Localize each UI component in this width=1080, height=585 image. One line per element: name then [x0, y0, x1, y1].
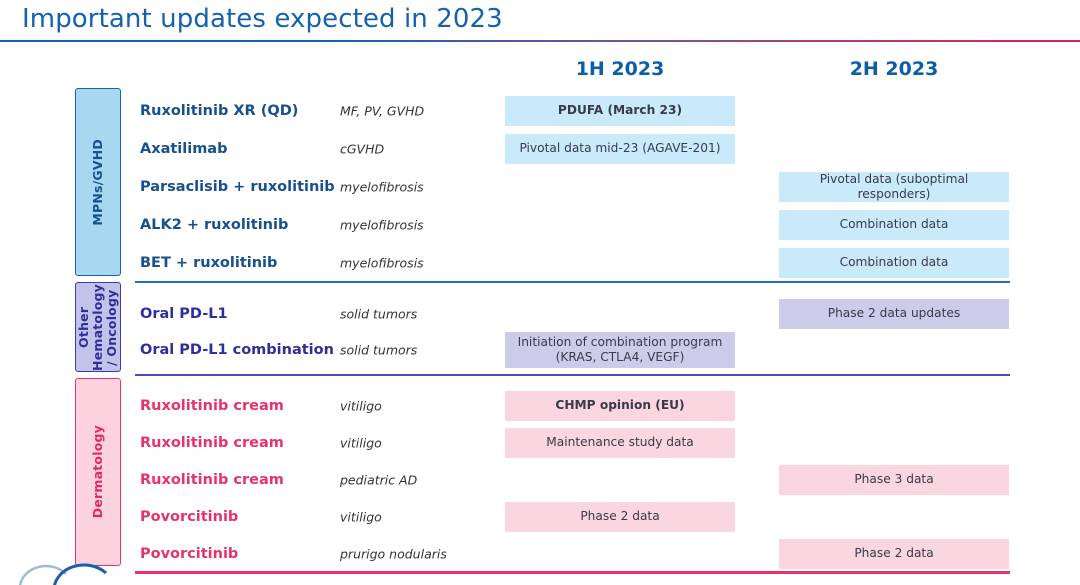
- company-logo-icon: [18, 560, 148, 585]
- table-row[interactable]: Oral PD-L1 combination solid tumors Init…: [0, 331, 1080, 368]
- page-title: Important updates expected in 2023: [22, 4, 503, 34]
- row-indication: vitiligo: [340, 398, 382, 413]
- milestone-bar-2h[interactable]: Phase 2 data: [779, 539, 1009, 569]
- row-drug-name: ALK2 + ruxolitinib: [140, 217, 288, 233]
- milestone-bar-1h[interactable]: Maintenance study data: [505, 428, 735, 458]
- milestone-bar-2h[interactable]: Combination data: [779, 210, 1009, 240]
- row-drug-name: Ruxolitinib cream: [140, 398, 284, 414]
- row-drug-name: Povorcitinib: [140, 546, 238, 562]
- row-drug-name: Parsaclisib + ruxolitinib: [140, 179, 335, 195]
- table-row[interactable]: Ruxolitinib cream pediatric AD Phase 3 d…: [0, 461, 1080, 498]
- row-indication: vitiligo: [340, 509, 382, 524]
- milestone-bar-1h[interactable]: Pivotal data mid-23 (AGAVE-201): [505, 134, 735, 164]
- section-divider-mpns-other: [135, 281, 1010, 283]
- row-indication: pediatric AD: [340, 472, 417, 487]
- table-row[interactable]: Oral PD-L1 solid tumors Phase 2 data upd…: [0, 295, 1080, 332]
- row-drug-name: Oral PD-L1: [140, 306, 228, 322]
- row-drug-name: Oral PD-L1 combination: [140, 342, 334, 358]
- milestone-bar-2h[interactable]: Combination data: [779, 248, 1009, 278]
- row-drug-name: Povorcitinib: [140, 509, 238, 525]
- section-divider-other-dermatology: [135, 374, 1010, 376]
- row-indication: MF, PV, GVHD: [340, 103, 424, 118]
- table-row[interactable]: Axatilimab cGVHD Pivotal data mid-23 (AG…: [0, 130, 1080, 167]
- table-row[interactable]: Ruxolitinib XR (QD) MF, PV, GVHD PDUFA (…: [0, 92, 1080, 129]
- milestone-bar-1h[interactable]: CHMP opinion (EU): [505, 391, 735, 421]
- milestone-bar-2h[interactable]: Phase 2 data updates: [779, 299, 1009, 329]
- row-drug-name: Ruxolitinib cream: [140, 472, 284, 488]
- milestone-bar-1h[interactable]: Phase 2 data: [505, 502, 735, 532]
- milestone-bar-1h[interactable]: PDUFA (March 23): [505, 96, 735, 126]
- row-indication: prurigo nodularis: [340, 546, 447, 561]
- row-indication: vitiligo: [340, 435, 382, 450]
- row-drug-name: Ruxolitinib cream: [140, 435, 284, 451]
- row-drug-name: Axatilimab: [140, 141, 227, 157]
- row-indication: myelofibrosis: [340, 255, 424, 270]
- table-row[interactable]: Povorcitinib prurigo nodularis Phase 2 d…: [0, 535, 1080, 572]
- column-header-1h-2023: 1H 2023: [505, 58, 735, 80]
- table-row[interactable]: Parsaclisib + ruxolitinib myelofibrosis …: [0, 168, 1080, 205]
- table-row[interactable]: BET + ruxolitinib myelofibrosis Combinat…: [0, 244, 1080, 281]
- row-indication: myelofibrosis: [340, 217, 424, 232]
- table-row[interactable]: Ruxolitinib cream vitiligo CHMP opinion …: [0, 387, 1080, 424]
- column-header-2h-2023: 2H 2023: [779, 58, 1009, 80]
- title-divider-rule: [0, 40, 1080, 42]
- milestone-bar-1h[interactable]: Initiation of combination program (KRAS,…: [505, 332, 735, 368]
- row-drug-name: Ruxolitinib XR (QD): [140, 103, 298, 119]
- milestone-bar-2h[interactable]: Pivotal data (suboptimal responders): [779, 172, 1009, 202]
- table-row[interactable]: Ruxolitinib cream vitiligo Maintenance s…: [0, 424, 1080, 461]
- row-indication: solid tumors: [340, 306, 417, 321]
- row-drug-name: BET + ruxolitinib: [140, 255, 277, 271]
- milestone-bar-2h[interactable]: Phase 3 data: [779, 465, 1009, 495]
- table-row[interactable]: ALK2 + ruxolitinib myelofibrosis Combina…: [0, 206, 1080, 243]
- table-row[interactable]: Povorcitinib vitiligo Phase 2 data: [0, 498, 1080, 535]
- row-indication: myelofibrosis: [340, 179, 424, 194]
- row-indication: cGVHD: [340, 141, 384, 156]
- row-indication: solid tumors: [340, 342, 417, 357]
